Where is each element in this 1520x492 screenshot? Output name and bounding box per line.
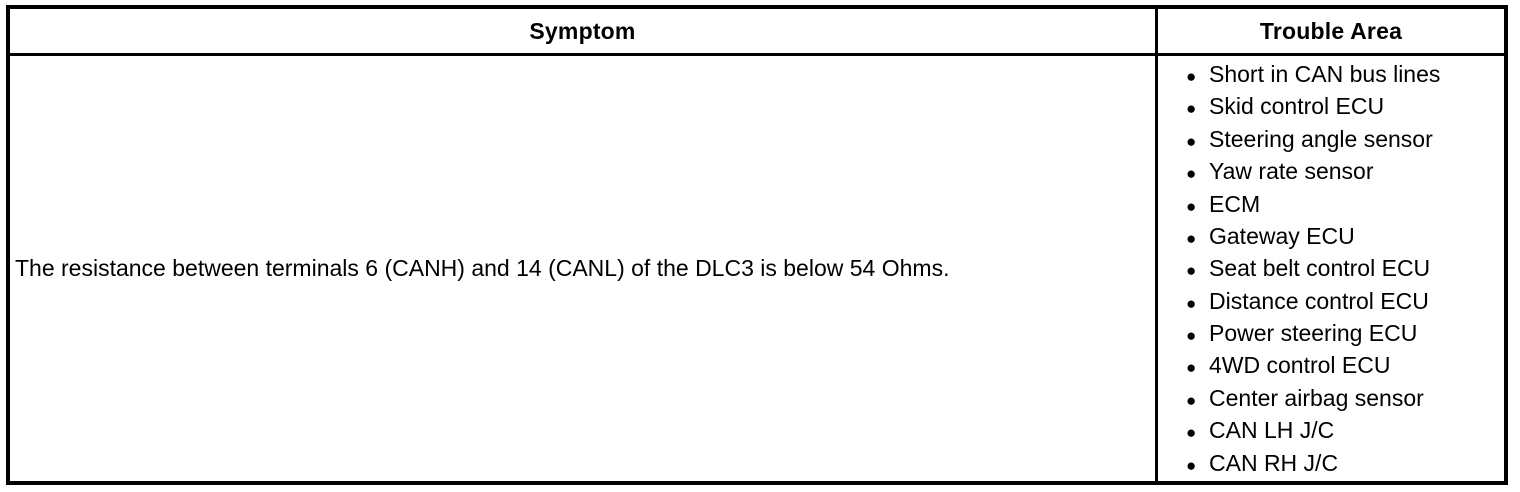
trouble-area-item-label: Skid control ECU [1209, 90, 1384, 122]
list-item: ●Power steering ECU [1186, 317, 1504, 349]
list-item: ●CAN LH J/C [1186, 414, 1504, 446]
symptom-description: The resistance between terminals 6 (CANH… [10, 254, 959, 283]
trouble-area-item-label: Yaw rate sensor [1209, 155, 1373, 187]
table-header-cell-symptom: Symptom [10, 9, 1155, 53]
list-item: ●Yaw rate sensor [1186, 155, 1504, 187]
bullet-icon: ● [1186, 450, 1209, 482]
list-item: ●Center airbag sensor [1186, 382, 1504, 414]
list-item: ●Skid control ECU [1186, 90, 1504, 122]
list-item: ●Seat belt control ECU [1186, 252, 1504, 284]
trouble-area-item-label: Seat belt control ECU [1209, 252, 1430, 284]
bullet-icon: ● [1186, 61, 1209, 93]
bullet-icon: ● [1186, 255, 1209, 287]
bullet-icon: ● [1186, 352, 1209, 384]
trouble-area-item-label: Gateway ECU [1209, 220, 1355, 252]
symptom-trouble-area-table: Symptom Trouble Area The resistance betw… [6, 5, 1508, 485]
bullet-icon: ● [1186, 93, 1209, 125]
bullet-icon: ● [1186, 288, 1209, 320]
trouble-area-item-label: Distance control ECU [1209, 285, 1429, 317]
list-item: ●Distance control ECU [1186, 285, 1504, 317]
trouble-area-item-label: Power steering ECU [1209, 317, 1417, 349]
list-item: ●Short in CAN bus lines [1186, 58, 1504, 90]
column-header-symptom: Symptom [529, 20, 635, 43]
table-header-cell-trouble-area: Trouble Area [1155, 9, 1504, 53]
bullet-icon: ● [1186, 320, 1209, 352]
trouble-area-item-label: Steering angle sensor [1209, 123, 1433, 155]
trouble-area-item-label: CAN RH J/C [1209, 447, 1338, 479]
bullet-icon: ● [1186, 385, 1209, 417]
list-item: ●Steering angle sensor [1186, 123, 1504, 155]
list-item: ●ECM [1186, 188, 1504, 220]
list-item: ●Gateway ECU [1186, 220, 1504, 252]
list-item: ●4WD control ECU [1186, 349, 1504, 381]
table-header-row: Symptom Trouble Area [10, 9, 1504, 56]
bullet-icon: ● [1186, 417, 1209, 449]
trouble-area-item-label: Center airbag sensor [1209, 382, 1424, 414]
table-cell-symptom: The resistance between terminals 6 (CANH… [10, 56, 1155, 481]
trouble-area-item-label: ECM [1209, 188, 1260, 220]
trouble-area-item-label: CAN LH J/C [1209, 414, 1334, 446]
column-header-trouble-area: Trouble Area [1260, 20, 1402, 43]
table-row: The resistance between terminals 6 (CANH… [10, 56, 1504, 481]
bullet-icon: ● [1186, 191, 1209, 223]
page-root: Symptom Trouble Area The resistance betw… [0, 0, 1520, 492]
trouble-area-list: ●Short in CAN bus lines●Skid control ECU… [1158, 58, 1504, 479]
list-item: ●CAN RH J/C [1186, 447, 1504, 479]
trouble-area-item-label: 4WD control ECU [1209, 349, 1390, 381]
bullet-icon: ● [1186, 126, 1209, 158]
trouble-area-item-label: Short in CAN bus lines [1209, 58, 1440, 90]
bullet-icon: ● [1186, 223, 1209, 255]
bullet-icon: ● [1186, 158, 1209, 190]
table-cell-trouble-area: ●Short in CAN bus lines●Skid control ECU… [1155, 56, 1504, 481]
